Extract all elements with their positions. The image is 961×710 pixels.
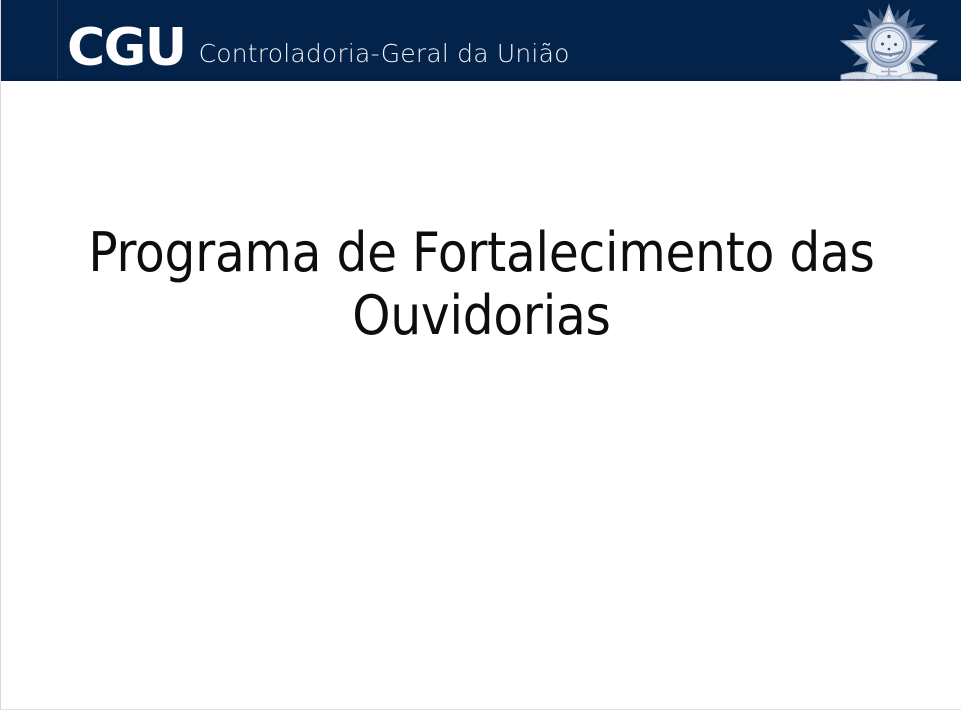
- presentation-slide: CGU Controladoria-Geral da União: [0, 0, 961, 710]
- header-vertical-divider: [57, 0, 58, 81]
- slide-content-area: Programa de Fortalecimento das Ouvidoria…: [1, 81, 961, 709]
- slide-title: Programa de Fortalecimento das Ouvidoria…: [59, 221, 904, 347]
- slide-header-band: CGU Controladoria-Geral da União: [1, 0, 961, 81]
- cgu-full-name-label: Controladoria-Geral da União: [199, 41, 570, 66]
- cgu-acronym-logo: CGU: [67, 22, 186, 74]
- title-block: Programa de Fortalecimento das Ouvidoria…: [59, 221, 904, 347]
- cgu-brand-lockup: CGU Controladoria-Geral da União: [67, 22, 570, 72]
